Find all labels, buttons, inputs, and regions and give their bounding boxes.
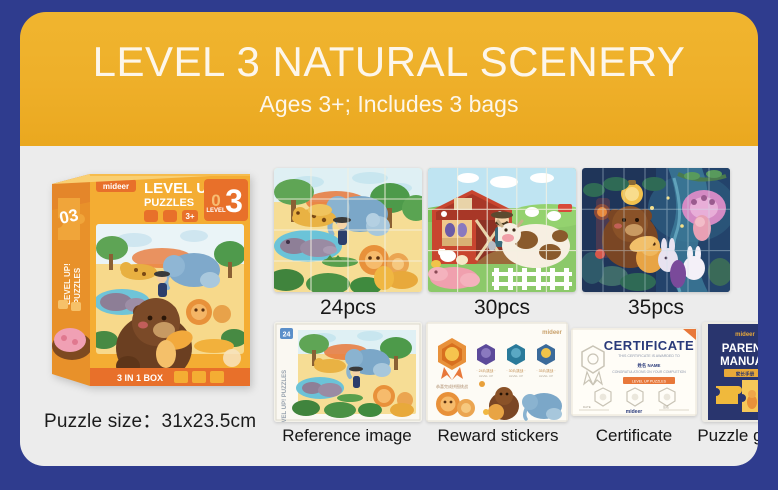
farm-puzzle-image (428, 168, 576, 292)
svg-text:LEVEL: LEVEL (206, 208, 226, 214)
svg-text:恭喜完成拼图挑战: 恭喜完成拼图挑战 (436, 383, 468, 389)
svg-text:3: 3 (225, 183, 243, 219)
svg-text:3+: 3+ (185, 212, 194, 221)
svg-text:mideer: mideer (626, 409, 642, 415)
puzzle-label-35pcs: 35pcs (582, 296, 730, 320)
svg-text:LEVEL UP!: LEVEL UP! (63, 263, 72, 305)
puzzle-thumbnail-row: 24pcs 30pcs 35pcs (268, 168, 744, 318)
svg-text:LEVEL UP: LEVEL UP (479, 374, 493, 378)
accessory-label-reference-image: Reference image (264, 426, 430, 446)
svg-text:3 IN 1 BOX: 3 IN 1 BOX (117, 373, 163, 383)
svg-text:家长手册: 家长手册 (736, 370, 755, 377)
svg-text:LEVEL UP! PUZZLES: LEVEL UP! PUZZLES (282, 370, 288, 422)
svg-text:mideer: mideer (542, 330, 562, 336)
accessory-label-certificate: Certificate (568, 426, 700, 446)
svg-text:签名: 签名 (663, 404, 669, 409)
svg-text:PARENT: PARENT (722, 343, 758, 355)
accessory-puzzle-guide[interactable]: mideer PARENT MANUAL 家长手册 (702, 322, 758, 422)
svg-text:mideer: mideer (103, 182, 129, 191)
svg-text:DATE: DATE (583, 405, 591, 409)
content-panel: 03 LEVEL UP! PUZZLES mideer (20, 146, 758, 466)
svg-text:PUZZLES: PUZZLES (144, 197, 194, 209)
reference-card-image: 24 LEVEL UP! PUZZLES (274, 322, 422, 422)
svg-text:LEVEL UP: LEVEL UP (509, 374, 523, 378)
svg-text:THIS CERTIFICATE IS AWARDED TO: THIS CERTIFICATE IS AWARDED TO (618, 354, 680, 358)
svg-text:· 35片挑战 ·: · 35片挑战 · (536, 368, 555, 373)
svg-text:MANUAL: MANUAL (720, 356, 758, 368)
accessory-reward-stickers[interactable]: mideer 恭喜完成拼图挑战 · 24片挑战 · LEVEL UP · 30 (426, 322, 568, 422)
puzzle-thumbnail-30pcs[interactable] (428, 168, 576, 292)
svg-text:03: 03 (58, 205, 80, 228)
svg-text:· 30片挑战 ·: · 30片挑战 · (506, 368, 525, 373)
svg-text:PUZZLES: PUZZLES (73, 267, 82, 304)
certificate-image: CERTIFICATE THIS CERTIFICATE IS AWARDED … (571, 328, 697, 416)
accessory-reference-image[interactable]: 24 LEVEL UP! PUZZLES (274, 322, 422, 422)
puzzle-label-24pcs: 24pcs (274, 296, 422, 320)
accessory-label-reward-stickers: Reward stickers (420, 426, 576, 446)
puzzle-thumbnail-35pcs[interactable] (582, 168, 730, 292)
accessory-certificate[interactable]: CERTIFICATE THIS CERTIFICATE IS AWARDED … (571, 328, 697, 416)
puzzle-size-label: Puzzle size： (44, 411, 162, 432)
svg-text:24: 24 (283, 332, 291, 339)
puzzle-label-30pcs: 30pcs (428, 296, 576, 320)
svg-text:mideer: mideer (735, 332, 755, 338)
product-info-card: LEVEL 3 NATURAL SCENERY Ages 3+; Include… (0, 0, 778, 490)
parent-manual-image: mideer PARENT MANUAL 家长手册 (702, 322, 758, 422)
svg-text:CONGRATULATIONS ON YOUR COMPLE: CONGRATULATIONS ON YOUR COMPLETION (612, 370, 686, 374)
svg-text:LEVEL UP: LEVEL UP (539, 374, 553, 378)
puzzle-size-text: Puzzle size：31x23.5cm (44, 406, 294, 433)
night-forest-puzzle-image (582, 168, 730, 292)
svg-text:LEVEL UP PUZZLES: LEVEL UP PUZZLES (632, 380, 667, 384)
puzzle-thumbnail-24pcs[interactable] (274, 168, 422, 292)
product-box-photo: 03 LEVEL UP! PUZZLES mideer (36, 158, 266, 408)
svg-text:姓名 NAME: 姓名 NAME (638, 362, 661, 369)
svg-text:CERTIFICATE: CERTIFICATE (604, 338, 694, 353)
page-title: LEVEL 3 NATURAL SCENERY (93, 40, 686, 84)
svg-text:· 24片挑战 ·: · 24片挑战 · (476, 368, 495, 373)
header-banner: LEVEL 3 NATURAL SCENERY Ages 3+; Include… (20, 12, 758, 146)
savanna-puzzle-image (274, 168, 422, 292)
accessory-label-puzzle-guide: Puzzle guide (696, 426, 758, 446)
product-box-illustration: 03 LEVEL UP! PUZZLES mideer (44, 162, 258, 398)
accessories-row: 24 LEVEL UP! PUZZLES (268, 322, 758, 452)
sticker-sheet-image: mideer 恭喜完成拼图挑战 · 24片挑战 · LEVEL UP · 30 (426, 322, 568, 422)
puzzle-size-value: 31x23.5cm (162, 411, 257, 432)
header-subtitle: Ages 3+; Includes 3 bags (260, 91, 519, 118)
